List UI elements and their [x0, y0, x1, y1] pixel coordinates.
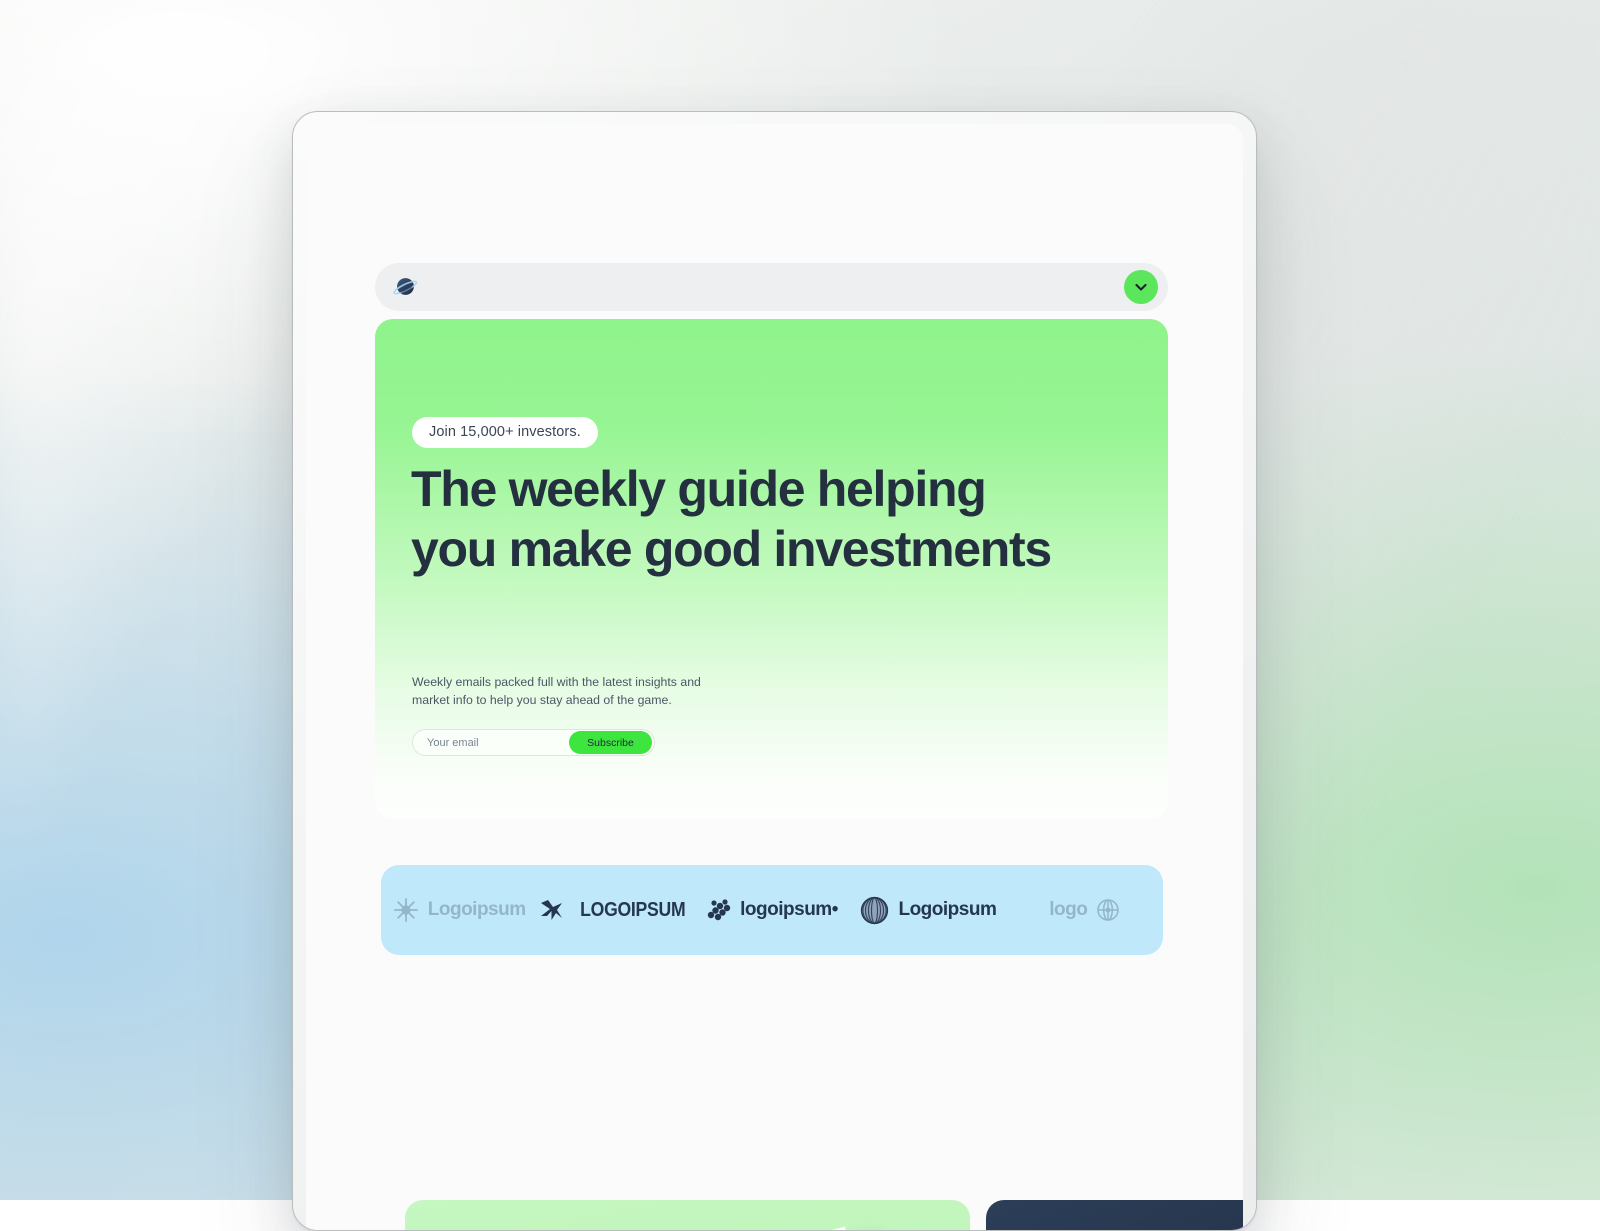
logo-label: logoipsum•	[740, 899, 838, 921]
hero-badge: Join 15,000+ investors.	[412, 417, 598, 448]
logo-item: Logoipsum	[381, 897, 537, 923]
subscribe-button[interactable]: Subscribe	[569, 731, 652, 754]
sun-rays-icon	[393, 897, 419, 923]
hero-title: The weekly guide helping you make good i…	[411, 459, 1051, 580]
device-screen: Join 15,000+ investors. The weekly guide…	[306, 124, 1243, 1230]
hero-section: Join 15,000+ investors. The weekly guide…	[375, 319, 1168, 819]
logo-label: logo	[1049, 899, 1087, 921]
email-input[interactable]	[413, 730, 569, 755]
logo-strip: Logoipsum LOGOIPSUM	[381, 865, 1163, 955]
logo-track: Logoipsum LOGOIPSUM	[381, 865, 1163, 955]
feature-card-green[interactable]: Get the jump on Wall Street Stay ahead o…	[405, 1200, 970, 1230]
logo-label: Logoipsum	[428, 899, 526, 921]
logo-item: logoipsum•	[694, 898, 850, 923]
planet-logo-icon[interactable]	[392, 274, 418, 300]
subscribe-form: Subscribe	[412, 729, 655, 756]
feature-card-dark[interactable]: Make smarter investments	[986, 1200, 1243, 1230]
hero-subtitle: Weekly emails packed full with the lates…	[412, 674, 712, 710]
logo-label: LOGOIPSUM	[580, 899, 685, 922]
device-frame: Join 15,000+ investors. The weekly guide…	[292, 111, 1257, 1231]
chevron-down-icon	[1133, 279, 1149, 295]
nav-toggle-button[interactable]	[1124, 270, 1158, 304]
globe-icon	[1096, 898, 1120, 922]
logo-item: Logoipsum	[850, 896, 1006, 925]
logo-label: Logoipsum	[898, 899, 996, 921]
logo-item: LOGOIPSUM	[537, 898, 693, 923]
navbar	[375, 263, 1168, 311]
butterfly-icon	[539, 898, 564, 923]
logo-item: logo	[1007, 898, 1163, 922]
spiral-sphere-icon	[860, 896, 889, 925]
dots-diagonal-icon	[706, 898, 731, 923]
envelope-illustration	[700, 1216, 950, 1230]
